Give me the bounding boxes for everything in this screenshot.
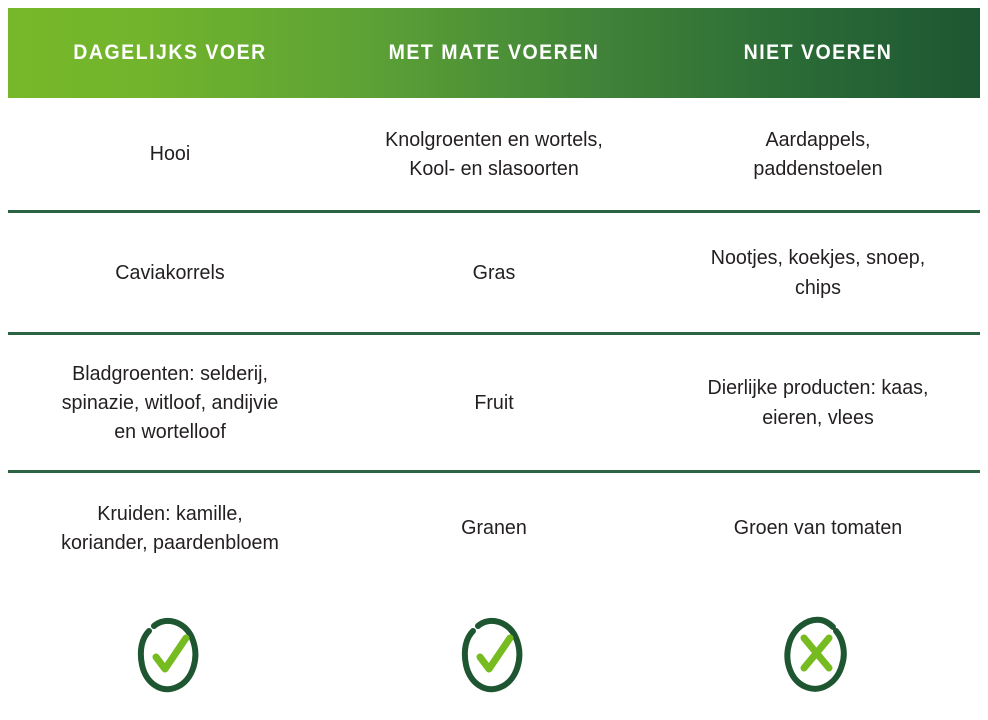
column-header-met-mate-voeren: MET MATE VOEREN (343, 41, 644, 65)
table-row: Kruiden: kamille,koriander, paardenbloem… (8, 473, 980, 583)
cell-dagelijks-voer-2: Caviakorrels (14, 258, 325, 287)
table-row: Bladgroenten: selderij,spinazie, witloof… (8, 335, 980, 470)
table-header-bar: DAGELIJKS VOER MET MATE VOEREN NIET VOER… (8, 8, 980, 98)
verdict-cell-met-mate-voeren (332, 607, 656, 697)
cell-niet-voeren-4: Groen van tomaten (662, 513, 973, 542)
cell-dagelijks-voer-3: Bladgroenten: selderij,spinazie, witloof… (14, 359, 325, 446)
table-row: Hooi Knolgroenten en wortels,Kool- en sl… (8, 98, 980, 210)
feeding-guide-table: DAGELIJKS VOER MET MATE VOEREN NIET VOER… (0, 0, 988, 720)
table-row: Caviakorrels Gras Nootjes, koekjes, snoe… (8, 213, 980, 332)
check-circle-icon (456, 607, 532, 697)
column-header-dagelijks-voer: DAGELIJKS VOER (19, 41, 320, 65)
cross-circle-icon (780, 607, 856, 697)
cell-met-mate-voeren-3: Fruit (338, 388, 649, 417)
verdict-cell-niet-voeren (656, 607, 980, 697)
cell-met-mate-voeren-4: Granen (338, 513, 649, 542)
column-header-niet-voeren: NIET VOEREN (667, 41, 968, 65)
check-circle-icon (132, 607, 208, 697)
cell-niet-voeren-2: Nootjes, koekjes, snoep,chips (662, 243, 973, 301)
cell-dagelijks-voer-4: Kruiden: kamille,koriander, paardenbloem (14, 499, 325, 557)
cell-niet-voeren-1: Aardappels,paddenstoelen (662, 125, 973, 183)
verdict-icon-row (8, 592, 980, 712)
cell-dagelijks-voer-1: Hooi (14, 139, 325, 168)
table-body: Hooi Knolgroenten en wortels,Kool- en sl… (8, 98, 980, 583)
cell-niet-voeren-3: Dierlijke producten: kaas,eieren, vlees (662, 373, 973, 431)
cell-met-mate-voeren-2: Gras (338, 258, 649, 287)
verdict-cell-dagelijks-voer (8, 607, 332, 697)
cell-met-mate-voeren-1: Knolgroenten en wortels,Kool- en slasoor… (338, 125, 649, 183)
